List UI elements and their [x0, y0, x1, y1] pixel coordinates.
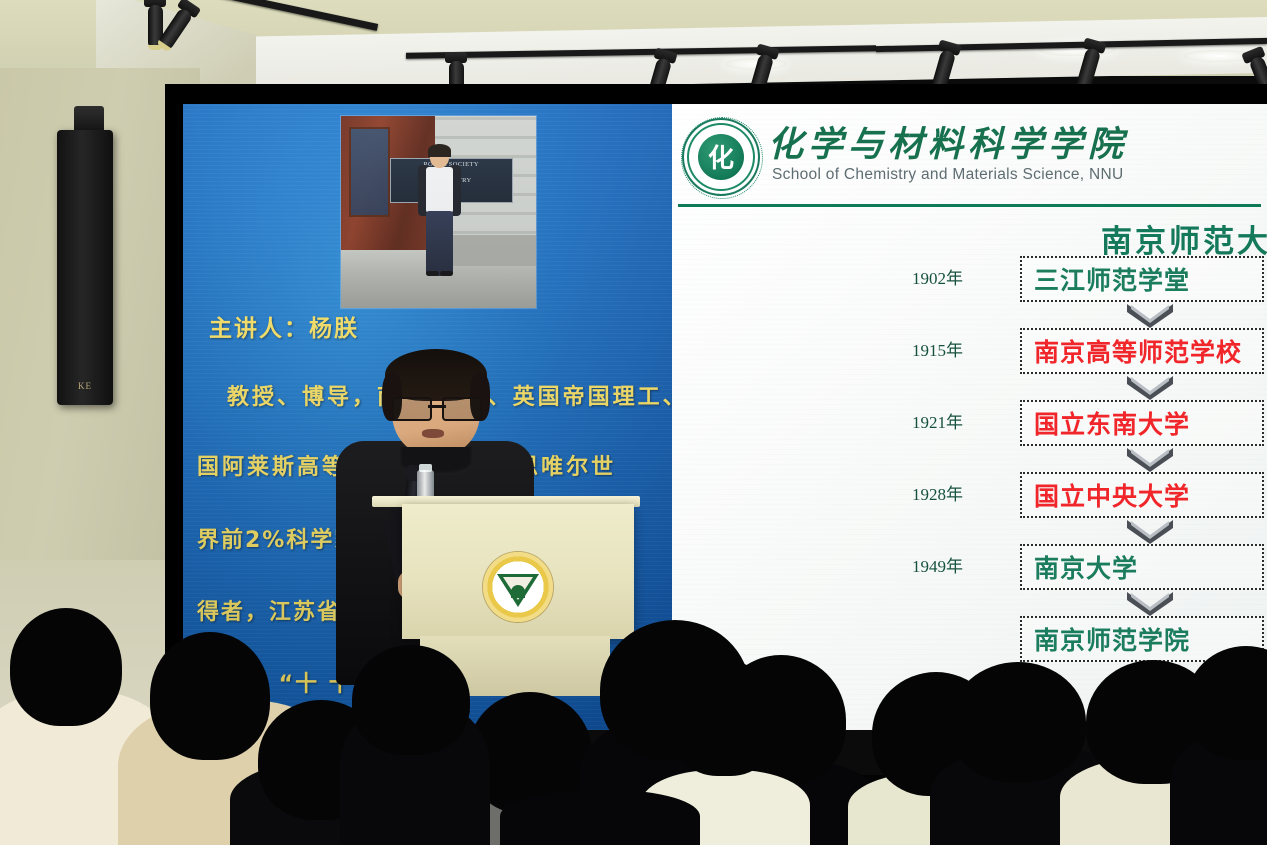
- timeline-chevron-icon: [1127, 592, 1173, 616]
- right-projection-slide: 化 化学与材料科学学院 School of Chemistry and Mate…: [672, 104, 1267, 730]
- wall-speaker: KE: [57, 130, 113, 405]
- timeline-chevron-icon: [1127, 376, 1173, 400]
- logo-inner-disc: 化: [698, 134, 744, 180]
- timeline-year: 1921年: [912, 400, 998, 446]
- timeline-box: 国立中央大学: [1020, 472, 1264, 518]
- slide-header: 化 化学与材料科学学院 School of Chemistry and Mate…: [672, 104, 1267, 202]
- timeline-label: 国立中央大学: [1034, 477, 1190, 513]
- header-rule: [678, 204, 1261, 207]
- timeline-label: 国立东南大学: [1034, 405, 1190, 441]
- slide-speaker-line: 主讲人：杨朕: [209, 309, 672, 343]
- school-title-en: School of Chemistry and Materials Scienc…: [772, 166, 1124, 184]
- school-title-cn: 化学与材料科学学院: [768, 116, 1128, 167]
- timeline-box: 三江师范学堂: [1020, 256, 1264, 302]
- presenter-mouth: [422, 429, 444, 438]
- eyeglass-lens-right: [442, 397, 482, 421]
- photo-person-shoe: [426, 271, 439, 276]
- speaker-portrait-photo: ROYAL SOCIETY OF CHEMISTRY: [341, 116, 536, 308]
- presenter-eyeglasses-icon: [392, 397, 482, 417]
- speaker-mount-bracket: [74, 106, 104, 133]
- photo-door-panel: [349, 127, 390, 216]
- timeline-label: 三江师范学堂: [1034, 261, 1190, 297]
- lecture-hall-photo: KE ROYAL SOCIETY OF CHEMISTRY: [0, 0, 1267, 845]
- timeline-box: 南京大学: [1020, 544, 1264, 590]
- podium: [402, 504, 634, 639]
- timeline-row: 南京师范学院: [672, 616, 1267, 662]
- audience-head: [352, 645, 470, 755]
- timeline-year: 1915年: [912, 328, 998, 374]
- southeast-university-seal-icon: [483, 552, 553, 622]
- timeline-row: 1949年 南京大学: [672, 544, 1267, 590]
- timeline-row: 1928年 国立中央大学: [672, 472, 1267, 518]
- audience-head: [10, 608, 122, 726]
- audience-shoulders: [500, 790, 700, 845]
- timeline-year: 1928年: [912, 472, 998, 518]
- timeline-row: 1921年 国立东南大学: [672, 400, 1267, 446]
- photo-person-hair: [428, 144, 451, 157]
- timeline-label: 南京高等师范学校: [1034, 333, 1242, 369]
- timeline-chevron-icon: [1127, 304, 1173, 328]
- seal-arch-glyph: [511, 585, 525, 598]
- photo-person: [419, 147, 460, 289]
- timeline-chevron-icon: [1127, 520, 1173, 544]
- timeline-row: 1915年 南京高等师范学校: [672, 328, 1267, 374]
- nnu-chemistry-logo-icon: 化: [682, 118, 760, 196]
- photo-person-shirt: [426, 167, 452, 214]
- photo-person-legs: [426, 211, 454, 276]
- audience-head: [150, 632, 270, 760]
- timeline-year: 1902年: [912, 256, 998, 302]
- timeline-year: 1949年: [912, 544, 998, 590]
- timeline-label: 南京师范学院: [1034, 621, 1190, 657]
- audience-head: [668, 660, 780, 776]
- audience-head: [950, 662, 1086, 782]
- eyeglass-lens-left: [392, 397, 432, 421]
- timeline-chevron-icon: [1127, 448, 1173, 472]
- timeline-box: 南京高等师范学校: [1020, 328, 1264, 374]
- speaker-brand-label: KE: [57, 381, 113, 391]
- timeline-box: 国立东南大学: [1020, 400, 1264, 446]
- timeline-row: 1902年 三江师范学堂: [672, 256, 1267, 302]
- photo-person-shoe: [440, 271, 453, 276]
- slide-heading: 南京师范大: [1101, 216, 1267, 261]
- timeline-label: 南京大学: [1034, 549, 1138, 585]
- logo-glyph: 化: [708, 138, 734, 175]
